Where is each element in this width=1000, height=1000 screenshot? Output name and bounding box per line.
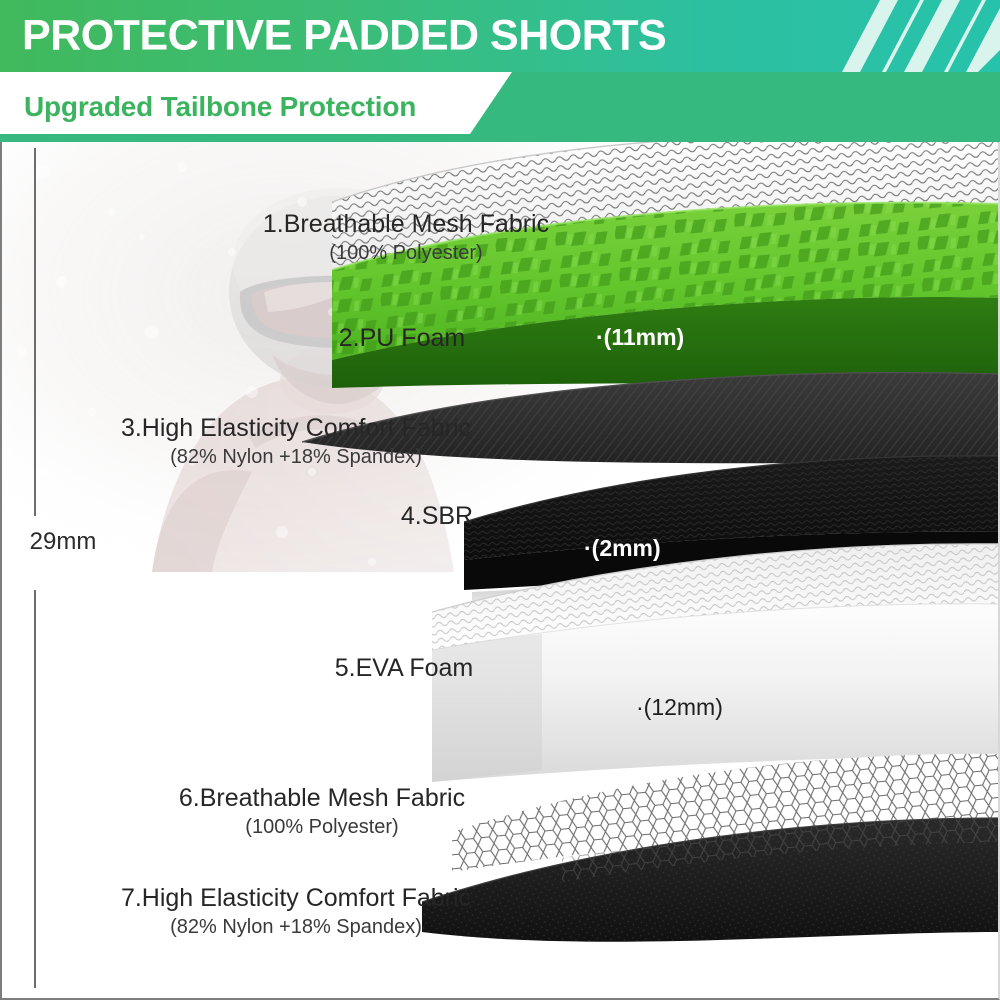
layer-2-thickness: ·(11mm) xyxy=(596,324,684,351)
layer-diagram: 29mm 1.Breathable Mesh Fabric (100% Poly… xyxy=(0,142,1000,1000)
thickness-measure-bracket: 29mm xyxy=(34,148,124,988)
layer-4-thickness: ·(2mm) xyxy=(584,535,661,562)
layer-4-name: 4.SBR xyxy=(382,502,492,532)
callout-layer-7: 7.High Elasticity Comfort Fabric (82% Ny… xyxy=(120,884,472,939)
callout-layer-3: 3.High Elasticity Comfort Fabric (82% Ny… xyxy=(120,414,472,469)
total-thickness-label: 29mm xyxy=(8,528,118,556)
page-title: PROTECTIVE PADDED SHORTS xyxy=(22,12,666,61)
callout-layer-1: 1.Breathable Mesh Fabric (100% Polyester… xyxy=(256,210,556,265)
measure-line-bottom xyxy=(34,590,36,988)
layer-2-name: 2.PU Foam xyxy=(322,324,482,354)
layer-3-name: 3.High Elasticity Comfort Fabric xyxy=(120,414,472,444)
layer-7-composition: (82% Nylon +18% Spandex) xyxy=(120,916,472,940)
page-subtitle: Upgraded Tailbone Protection xyxy=(24,91,416,123)
layer-1-composition: (100% Polyester) xyxy=(256,242,556,266)
layer-3-composition: (82% Nylon +18% Spandex) xyxy=(120,446,472,470)
layer-5-thickness: ·(12mm) xyxy=(636,694,723,721)
layer-6-name: 6.Breathable Mesh Fabric xyxy=(150,784,494,814)
measure-line-top xyxy=(34,148,36,516)
layer-stack-artwork xyxy=(2,142,1000,1000)
layer-7-name: 7.High Elasticity Comfort Fabric xyxy=(120,884,472,914)
header-bar: PROTECTIVE PADDED SHORTS xyxy=(0,0,1000,72)
callout-layer-6: 6.Breathable Mesh Fabric (100% Polyester… xyxy=(150,784,494,839)
subtitle-band: Upgraded Tailbone Protection xyxy=(0,72,1000,142)
layer-1-name: 1.Breathable Mesh Fabric xyxy=(256,210,556,240)
callout-layer-2: 2.PU Foam xyxy=(322,324,482,354)
product-infographic: PROTECTIVE PADDED SHORTS Upgraded Tail xyxy=(0,0,1000,1000)
layer-5-name: 5.EVA Foam xyxy=(320,654,488,684)
athlete-photo-backdrop xyxy=(2,142,642,572)
diagonal-stripes-decoration xyxy=(820,0,1000,72)
callout-layer-5: 5.EVA Foam xyxy=(320,654,488,684)
callout-layer-4: 4.SBR xyxy=(382,502,492,532)
layer-6-composition: (100% Polyester) xyxy=(150,816,494,840)
